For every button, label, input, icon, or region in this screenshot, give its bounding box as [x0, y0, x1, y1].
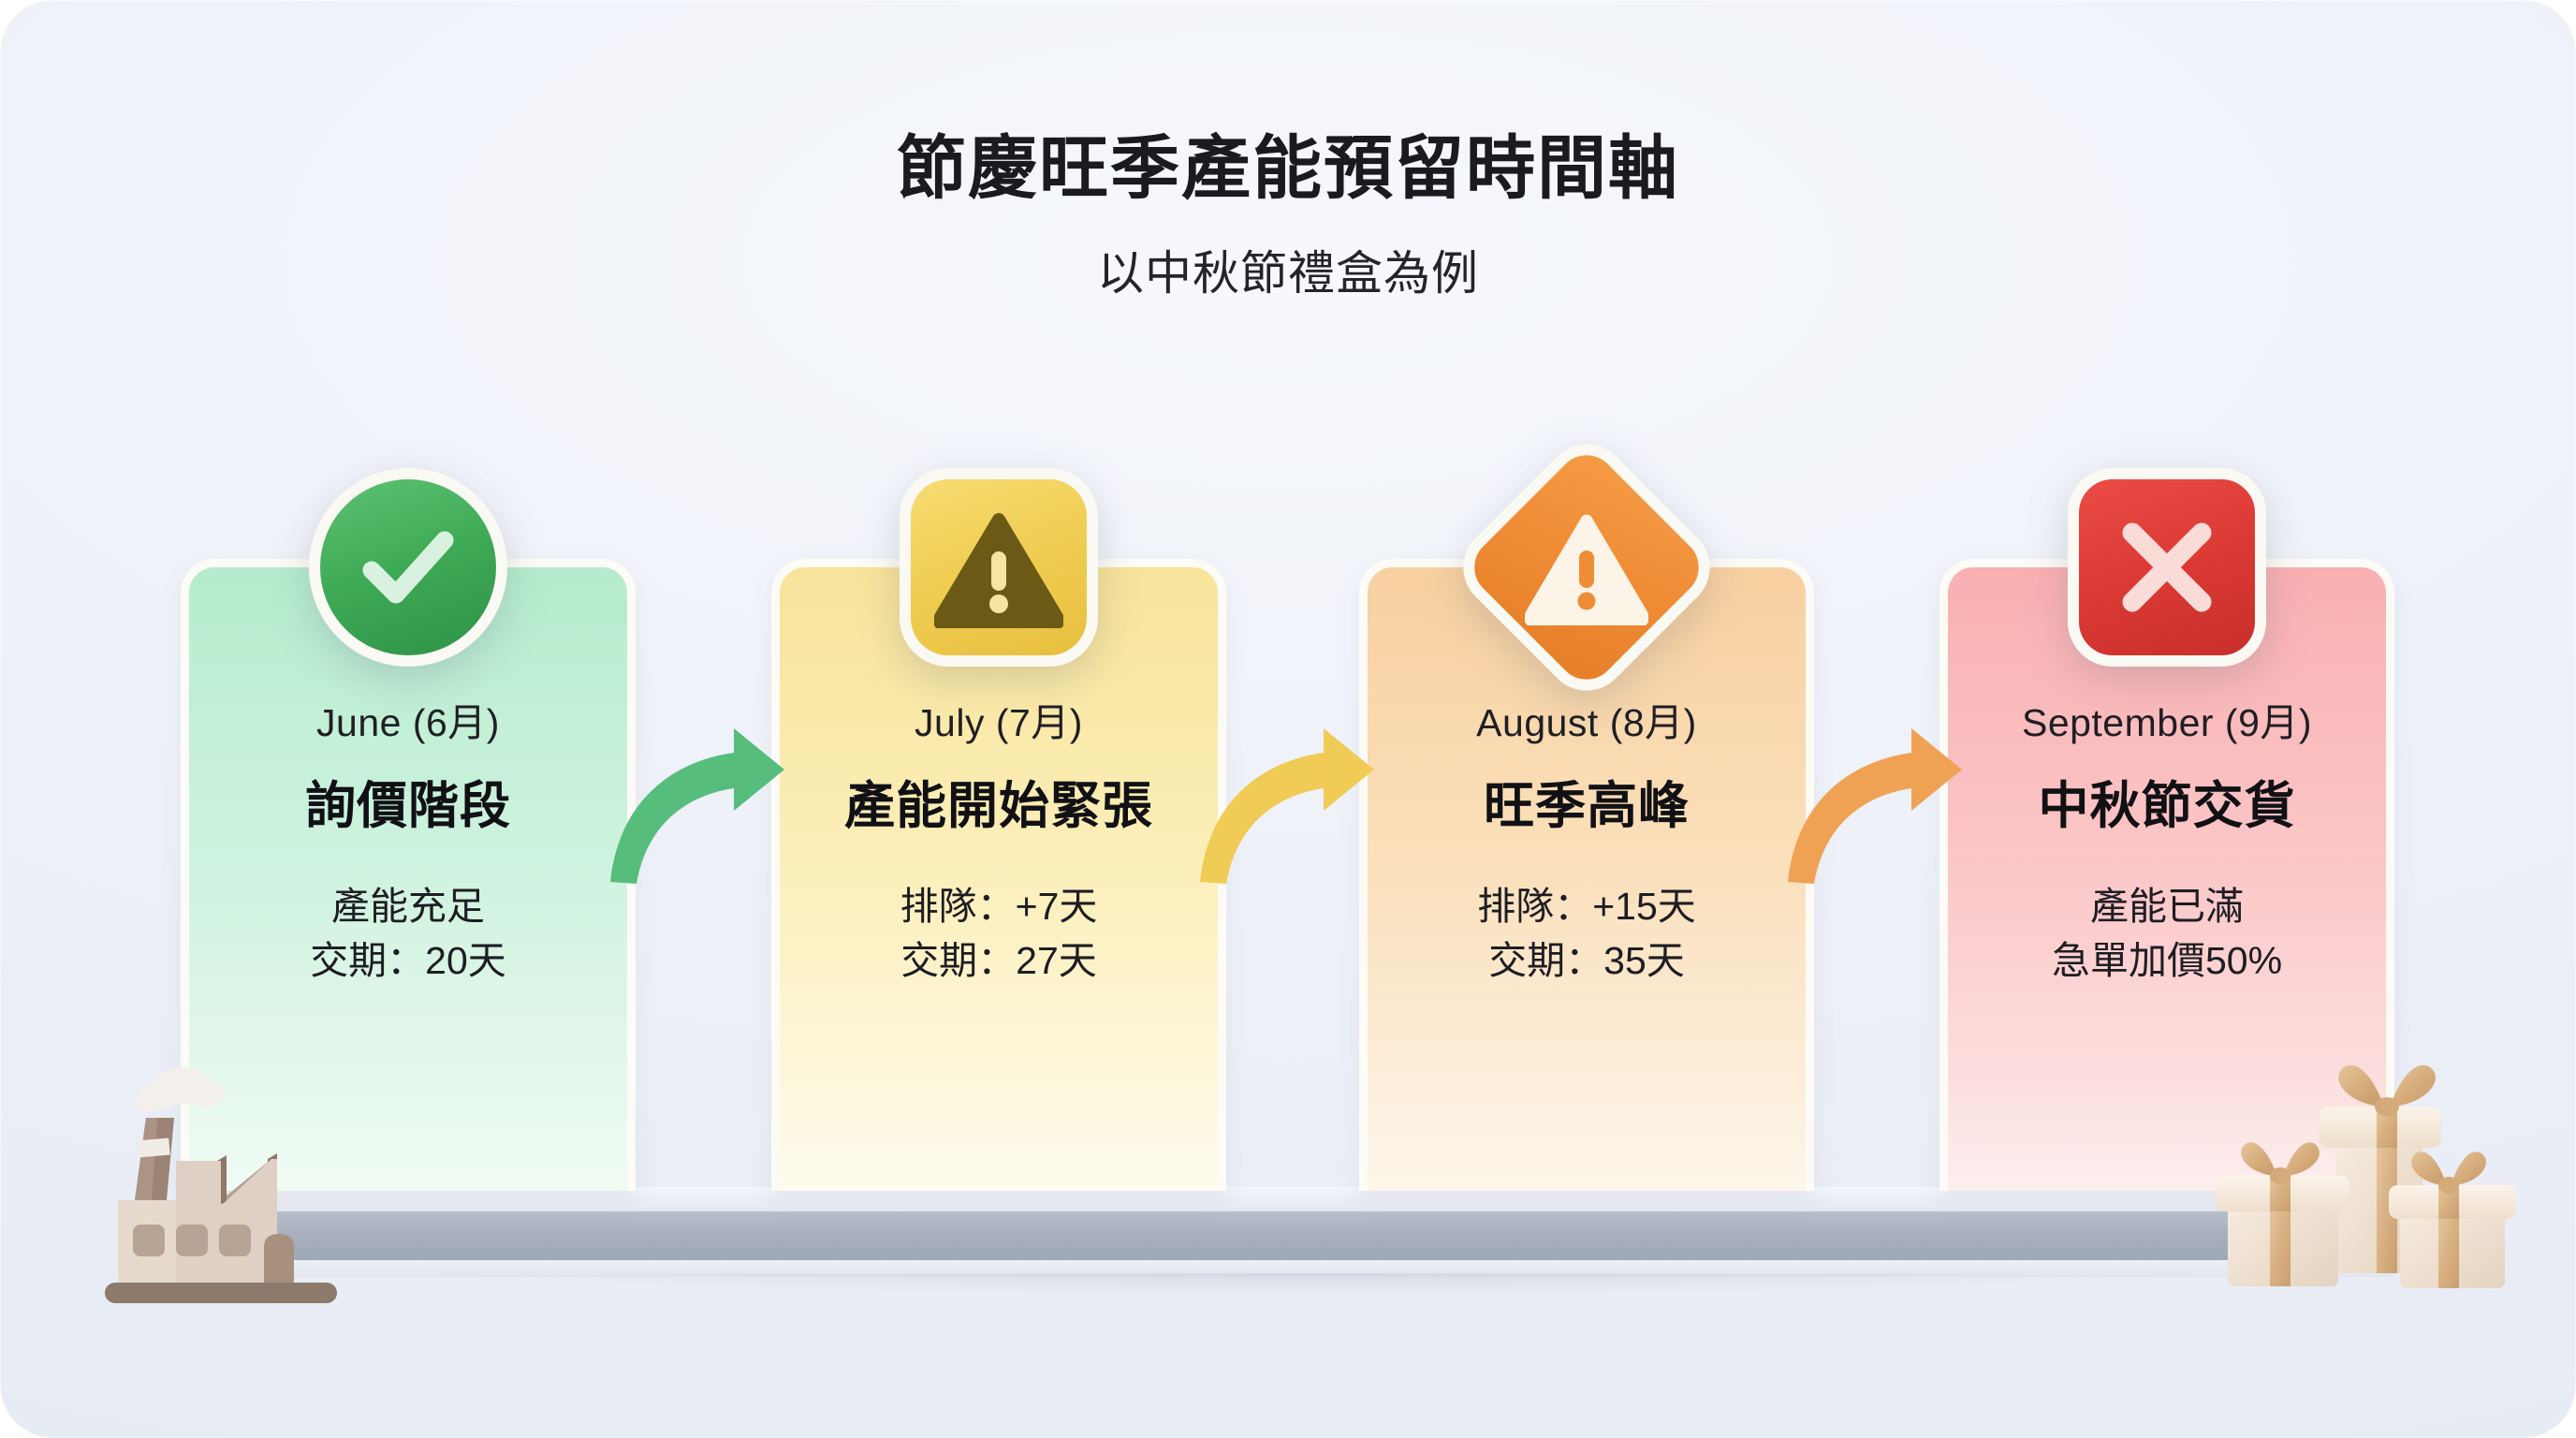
- card-month-label: September (9月): [2022, 691, 2312, 747]
- card-stage-label: 旺季高峰: [1484, 764, 1690, 838]
- card-month-label: August (8月): [1476, 691, 1697, 747]
- card-month-label: June (6月): [316, 691, 500, 747]
- curved-arrow-icon: [1775, 702, 1969, 889]
- page-subtitle: 以中秋節禮盒為例: [0, 236, 2576, 303]
- gift-boxes-icon: [2205, 1020, 2533, 1329]
- factory-icon: [64, 1041, 354, 1322]
- check-glyph: [347, 506, 469, 628]
- card-month-label: July (7月): [915, 691, 1083, 747]
- curved-arrow-icon: [1187, 702, 1382, 889]
- card-detail-line-2: 交期：20天: [310, 933, 506, 988]
- card-detail-line-1: 排隊：+15天: [1477, 879, 1696, 933]
- triangle-exclamation-glyph: [934, 506, 1063, 628]
- cross-square-icon: [2068, 468, 2266, 667]
- card-detail-line-1: 產能充足: [310, 879, 506, 933]
- check-circle-icon: [309, 468, 507, 667]
- alert-diamond-icon: [1487, 468, 1686, 667]
- gift-boxes-glyph: [2205, 1020, 2533, 1329]
- card-detail-line-2: 交期：27天: [900, 933, 1098, 988]
- arrow-july-to-august: [1187, 702, 1382, 889]
- card-stage-label: 中秋節交貨: [2039, 764, 2296, 838]
- infographic-canvas: 節慶旺季產能預留時間軸 以中秋節禮盒為例 June (6月) 詢價階段 產能充足…: [0, 0, 2576, 1438]
- card-stage-label: 詢價階段: [305, 764, 511, 838]
- timeline-rail: [251, 1187, 2381, 1273]
- cross-glyph: [2108, 508, 2226, 626]
- factory-glyph: [64, 1041, 354, 1322]
- card-stage-label: 產能開始緊張: [844, 764, 1153, 838]
- card-detail-line-1: 排隊：+7天: [900, 879, 1098, 933]
- curved-arrow-icon: [597, 702, 792, 889]
- arrow-june-to-july: [597, 702, 792, 889]
- page-title: 節慶旺季產能預留時間軸: [0, 112, 2576, 213]
- card-detail-line-2: 急單加價50%: [2052, 933, 2282, 988]
- timeline-rail-body: [251, 1211, 2381, 1260]
- card-detail-line-1: 產能已滿: [2052, 879, 2282, 933]
- triangle-exclamation-glyph: [1525, 509, 1648, 625]
- warning-triangle-icon: [900, 468, 1098, 667]
- card-detail-line-2: 交期：35天: [1477, 933, 1696, 988]
- arrow-august-to-september: [1775, 702, 1969, 889]
- timeline-rail-shadow: [288, 1273, 2344, 1305]
